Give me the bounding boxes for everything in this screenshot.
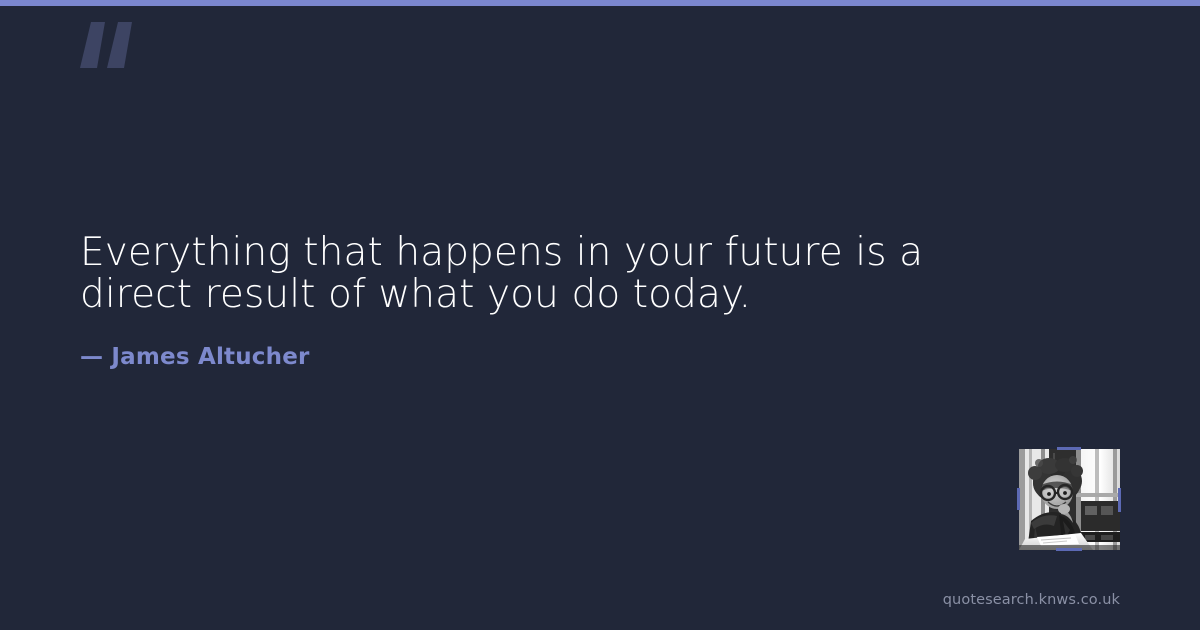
opening-quote-mark-icon <box>80 22 140 84</box>
portrait-edge-accent-left <box>1017 488 1020 510</box>
quote-attribution: — James Altucher <box>80 344 310 370</box>
quote-card: Everything that happens in your future i… <box>0 0 1200 630</box>
portrait-edge-accent-top <box>1057 447 1081 450</box>
quote-text: Everything that happens in your future i… <box>80 232 980 316</box>
author-portrait <box>1019 449 1120 550</box>
top-accent-bar <box>0 0 1200 6</box>
portrait-edge-accent-bottom <box>1056 548 1082 551</box>
quote-block: Everything that happens in your future i… <box>80 232 980 316</box>
portrait-edge-accent-right <box>1118 488 1121 512</box>
source-url: quotesearch.knws.co.uk <box>943 592 1120 608</box>
